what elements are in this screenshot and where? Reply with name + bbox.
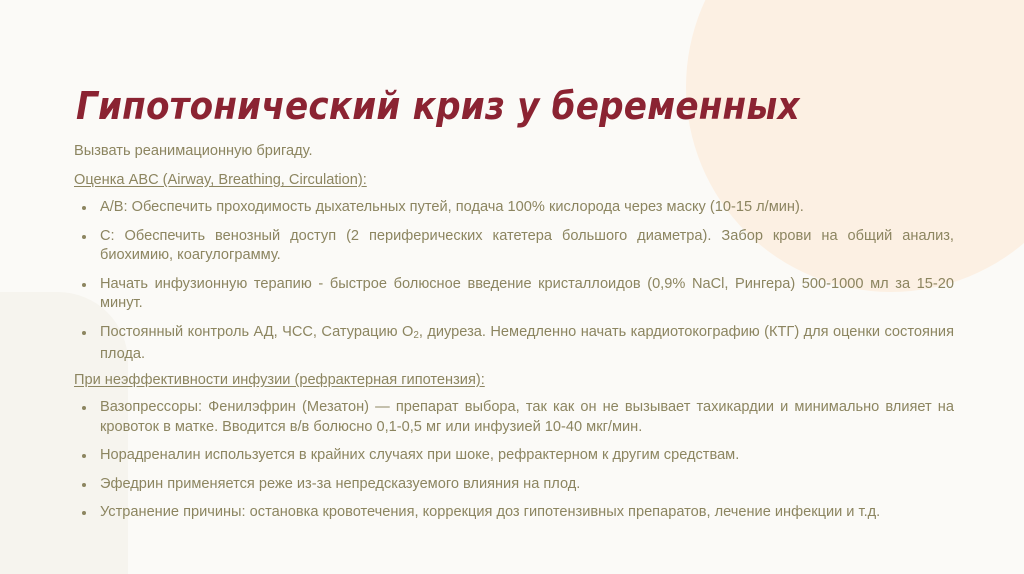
section-heading-refractory: При неэффективности инфузии (рефрактерна… bbox=[74, 371, 954, 391]
list-item-monitoring: Постоянный контроль АД, ЧСС, Сатурацию О… bbox=[74, 323, 954, 365]
section-heading-abc: Оценка ABC (Airway, Breathing, Circulati… bbox=[74, 171, 954, 191]
list-item: C: Обеспечить венозный доступ (2 перифер… bbox=[74, 227, 954, 266]
list-item: Начать инфузионную терапию - быстрое бол… bbox=[74, 275, 954, 314]
list-item: Эфедрин применяется реже из-за непредска… bbox=[74, 475, 954, 495]
list-item: A/B: Обеспечить проходимость дыхательных… bbox=[74, 198, 954, 218]
list-item: Устранение причины: остановка кровотечен… bbox=[74, 503, 954, 523]
list-item: Норадреналин используется в крайних случ… bbox=[74, 446, 954, 466]
slide-body: Вызвать реанимационную бригаду. Оценка A… bbox=[74, 142, 954, 523]
section-heading-abc-label: Оценка ABC (Airway, Breathing, Circulati… bbox=[74, 172, 367, 188]
section-heading-refractory-label: При неэффективности инфузии (рефрактерна… bbox=[74, 372, 485, 388]
monitoring-text-part1: Постоянный контроль АД, ЧСС, Сатурацию О bbox=[100, 324, 413, 340]
bullet-list-abc: A/B: Обеспечить проходимость дыхательных… bbox=[74, 198, 954, 365]
presentation-slide: Гипотонический криз у беременных Вызвать… bbox=[0, 0, 1024, 574]
intro-line: Вызвать реанимационную бригаду. bbox=[74, 142, 954, 162]
slide-content: Гипотонический криз у беременных Вызвать… bbox=[0, 0, 1024, 574]
list-item: Вазопрессоры: Фенилэфрин (Мезатон) — пре… bbox=[74, 398, 954, 437]
bullet-list-refractory: Вазопрессоры: Фенилэфрин (Мезатон) — пре… bbox=[74, 398, 954, 523]
slide-title: Гипотонический криз у беременных bbox=[76, 83, 976, 129]
